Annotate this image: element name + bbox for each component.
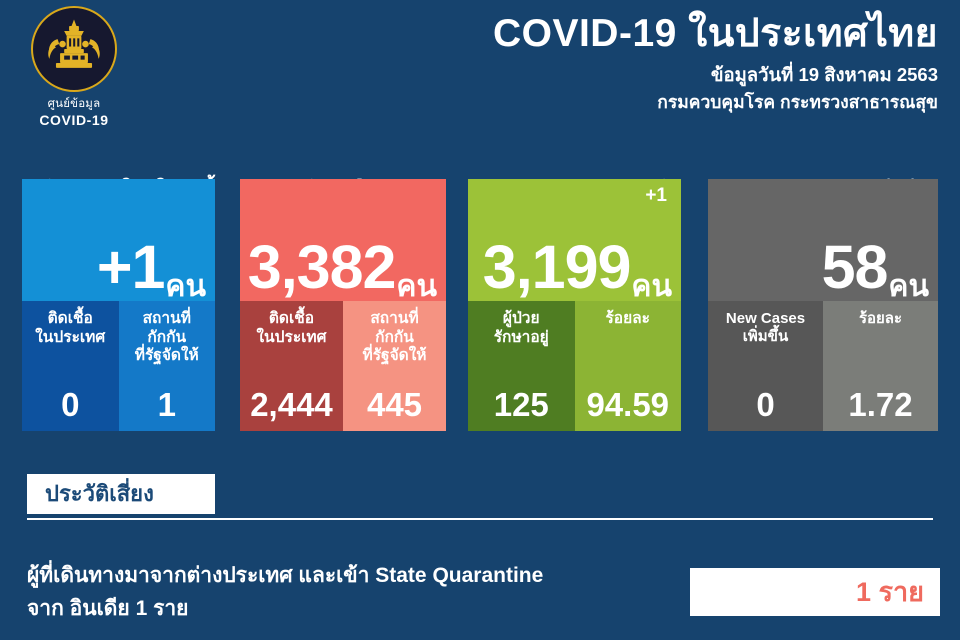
- caption-line-1: ผู้ป่วย: [472, 310, 571, 329]
- caption-line-1: New Cases: [712, 310, 819, 328]
- section-divider: [27, 518, 933, 520]
- caption-line-2: ในประเทศ: [26, 329, 115, 348]
- stat-unit: คน: [888, 273, 929, 302]
- subcell-percentage: ร้อยละ 1.72: [823, 301, 938, 431]
- stat-value: +1: [97, 239, 165, 297]
- caption-line-2: เพิ่มขึ้น: [712, 328, 819, 346]
- subcell-value: 94.59: [575, 388, 682, 421]
- caption-line-2: กักกัน: [347, 329, 442, 348]
- subcell-value: 1: [119, 388, 216, 421]
- subcell-percentage: ร้อยละ 94.59: [575, 301, 682, 431]
- risk-description: ผู้ที่เดินทางมาจากต่างประเทศ และเข้า Sta…: [27, 560, 667, 625]
- report-date: ข้อมูลวันที่ 19 สิงหาคม 2563: [493, 64, 938, 86]
- subcell-new-cases: New Cases เพิ่มขึ้น 0: [708, 301, 823, 431]
- stat-card-deaths: เสียชีวิต 58 คน New Cases เพิ่มขึ้น 0: [708, 179, 938, 431]
- caption-line-1: สถานที่: [347, 310, 442, 329]
- caption-line-2: ในประเทศ: [244, 329, 339, 348]
- caption-line-1: สถานที่: [123, 310, 212, 329]
- page-title: COVID-19 ในประเทศไทย: [493, 12, 938, 56]
- stat-delta-badge: +1: [645, 185, 667, 207]
- caption-line-1: ติดเชื้อ: [244, 310, 339, 329]
- risk-description-line-2: จาก อินเดีย 1 ราย: [27, 593, 667, 626]
- stat-card-headline: 58 คน: [708, 179, 938, 301]
- caption-line-1: ร้อยละ: [579, 310, 678, 329]
- caption-line-1: ร้อยละ: [827, 310, 934, 328]
- header-text-block: COVID-19 ในประเทศไทย ข้อมูลวันที่ 19 สิง…: [493, 12, 938, 113]
- subcell-value: 1.72: [823, 388, 938, 421]
- subcell-caption: ร้อยละ: [823, 310, 938, 328]
- subcell-state-quarantine: สถานที่ กักกัน ที่รัฐจัดให้ 445: [343, 301, 446, 431]
- stat-value-group: 58 คน: [822, 239, 929, 297]
- stat-card-headline: 3,382 คน: [240, 179, 446, 301]
- stat-value: 58: [822, 239, 888, 297]
- subcell-domestic: ติดเชื้อ ในประเทศ 2,444: [240, 301, 343, 431]
- stat-unit: คน: [165, 273, 206, 302]
- subcell-domestic: ติดเชื้อ ในประเทศ 0: [22, 301, 119, 431]
- organization-line: กรมควบคุมโรค กระทรวงสาธารณสุข: [493, 92, 938, 113]
- stat-value-group: 3,199 คน: [483, 239, 672, 297]
- stat-value: 3,382: [248, 239, 396, 297]
- subcell-caption: สถานที่ กักกัน ที่รัฐจัดให้: [343, 310, 446, 366]
- subcell-under-treatment: ผู้ป่วย รักษาอยู่ 125: [468, 301, 575, 431]
- subcell-caption: สถานที่ กักกัน ที่รัฐจัดให้: [119, 310, 216, 366]
- caption-line-2: รักษาอยู่: [472, 329, 571, 348]
- stat-card-subcells: ติดเชื้อ ในประเทศ 2,444 สถานที่ กักกัน ท…: [240, 301, 446, 431]
- caption-line-3: ที่รัฐจัดให้: [123, 347, 212, 366]
- subcell-value: 0: [22, 388, 119, 421]
- subcell-value: 125: [468, 388, 575, 421]
- subcell-value: 0: [708, 388, 823, 421]
- subcell-caption: ติดเชื้อ ในประเทศ: [22, 310, 119, 347]
- subcell-state-quarantine: สถานที่ กักกัน ที่รัฐจัดให้ 1: [119, 301, 216, 431]
- logo-subtitle-thai: ศูนย์ข้อมูล: [18, 95, 130, 113]
- stat-value-group: 3,382 คน: [248, 239, 437, 297]
- caption-line-2: กักกัน: [123, 329, 212, 348]
- logo-subtitle-covid: COVID-19: [18, 113, 130, 128]
- stat-card-subcells: ผู้ป่วย รักษาอยู่ 125 ร้อยละ 94.59: [468, 301, 681, 431]
- stat-unit: คน: [396, 273, 437, 302]
- risk-history-tab: ประวัติเสี่ยง: [27, 474, 215, 514]
- risk-description-line-1: ผู้ที่เดินทางมาจากต่างประเทศ และเข้า Sta…: [27, 560, 667, 593]
- risk-count-value: 1 ราย: [856, 579, 924, 606]
- caption-line-1: ติดเชื้อ: [26, 310, 115, 329]
- stat-card-subcells: ติดเชื้อ ในประเทศ 0 สถานที่ กักกัน ที่รั…: [22, 301, 215, 431]
- risk-history-tab-label: ประวัติเสี่ยง: [45, 483, 154, 505]
- subcell-caption: ติดเชื้อ ในประเทศ: [240, 310, 343, 347]
- subcell-caption: ร้อยละ: [575, 310, 682, 329]
- stat-card-cumulative: ผู้ป่วยยืนยันสะสม 3,382 คน ติดเชื้อ ในปร…: [240, 179, 446, 431]
- stat-card-recovered: หายป่วยแล้ว +1 3,199 คน ผู้ป่วย รักษาอยู…: [468, 179, 681, 431]
- subcell-value: 2,444: [240, 388, 343, 421]
- risk-count-badge: 1 ราย: [690, 568, 940, 616]
- infographic-page: ศูนย์ข้อมูล COVID-19 COVID-19 ในประเทศไท…: [0, 0, 960, 640]
- stat-card-new-cases: ผู้ป่วยรายใหม่ในวันนี้ +1 คน ติดเชื้อ ใน…: [22, 179, 215, 431]
- subcell-caption: ผู้ป่วย รักษาอยู่: [468, 310, 575, 347]
- stat-value: 3,199: [483, 239, 631, 297]
- stat-card-headline: +1 คน: [22, 179, 215, 301]
- logo-block: ศูนย์ข้อมูล COVID-19: [18, 6, 130, 128]
- thai-moph-emblem-icon: [31, 6, 117, 92]
- stat-unit: คน: [631, 273, 672, 302]
- stat-card-grid: ผู้ป่วยรายใหม่ในวันนี้ +1 คน ติดเชื้อ ใน…: [0, 145, 960, 455]
- caption-line-3: ที่รัฐจัดให้: [347, 347, 442, 366]
- stat-value-group: +1 คน: [97, 239, 206, 297]
- risk-history-section: ประวัติเสี่ยง ผู้ที่เดินทางมาจากต่างประเ…: [0, 470, 960, 640]
- stat-card-headline: +1 3,199 คน: [468, 179, 681, 301]
- stat-card-subcells: New Cases เพิ่มขึ้น 0 ร้อยละ 1.72: [708, 301, 938, 431]
- subcell-value: 445: [343, 388, 446, 421]
- subcell-caption: New Cases เพิ่มขึ้น: [708, 310, 823, 346]
